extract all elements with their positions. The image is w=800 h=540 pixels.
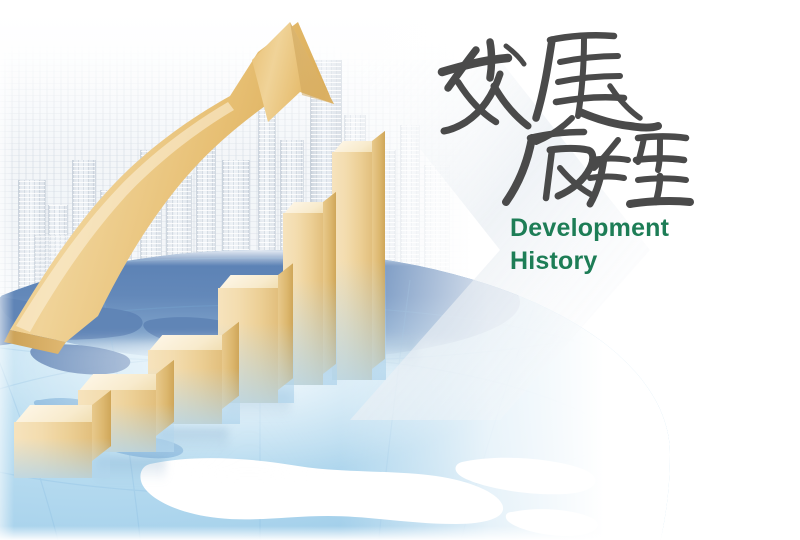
english-title: Development History (510, 212, 669, 278)
bar-front-face (14, 422, 92, 478)
title-block: 发展历程 (432, 26, 772, 216)
char-zhan (536, 35, 658, 142)
english-title-line2: History (510, 245, 669, 278)
banner-canvas: 发展历程 (0, 0, 800, 540)
upward-growth-arrow (0, 0, 400, 360)
english-title-line1: Development (510, 212, 669, 245)
char-fa (442, 42, 528, 131)
char-cheng (590, 137, 690, 205)
bar-side-face (156, 360, 174, 436)
char-li (506, 132, 594, 202)
chinese-calligraphy-title: 发展历程 (432, 26, 702, 211)
chart-bar (14, 422, 110, 478)
